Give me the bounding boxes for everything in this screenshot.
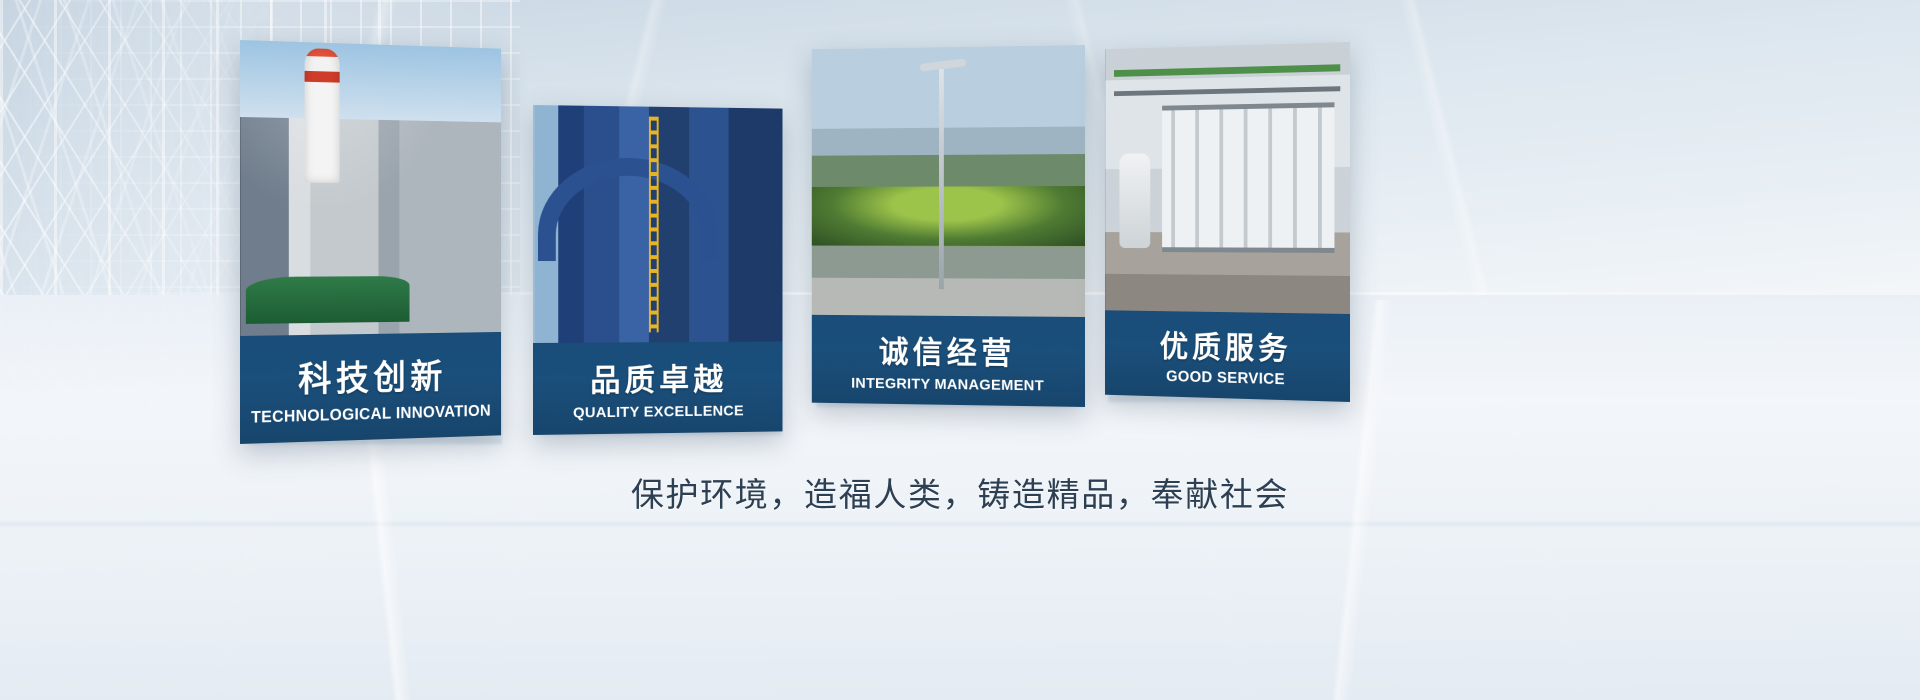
feature-card-integrity-management[interactable]: 诚信经营 INTEGRITY MANAGEMENT (812, 45, 1085, 407)
card-title-cn-2: 品质卓越 (590, 355, 727, 401)
card-title-cn-4: 优质服务 (1160, 322, 1292, 369)
photo-sky (240, 40, 501, 122)
grey-pipe-shape (1114, 86, 1339, 96)
hedge-shape (812, 186, 1085, 246)
card-caption-band-1: 科技创新 TECHNOLOGICAL INNOVATION (240, 332, 501, 444)
card-photo-good-service (1105, 42, 1350, 314)
street-lamp-pole (939, 63, 944, 289)
card-title-cn-3: 诚信经营 (879, 327, 1016, 373)
card-title-en-1: TECHNOLOGICAL INNOVATION (251, 402, 491, 428)
feature-card-technological-innovation[interactable]: 科技创新 TECHNOLOGICAL INNOVATION (240, 40, 501, 444)
feature-card-good-service[interactable]: 优质服务 GOOD SERVICE (1105, 42, 1350, 402)
card-photo-integrity-management (812, 45, 1085, 317)
feature-card-quality-excellence[interactable]: 品质卓越 QUALITY EXCELLENCE (533, 105, 783, 435)
card-title-en-2: QUALITY EXCELLENCE (573, 403, 744, 422)
green-pipe-shape (1114, 64, 1339, 77)
card-caption-band-3: 诚信经营 INTEGRITY MANAGEMENT (812, 315, 1085, 407)
green-tank-shape (245, 276, 409, 324)
card-caption-band-2: 品质卓越 QUALITY EXCELLENCE (533, 341, 783, 435)
chimney-shape (305, 48, 340, 183)
banner-tagline: 保护环境，造福人类，铸造精品，奉献社会 (0, 468, 1920, 516)
card-title-cn-1: 科技创新 (298, 349, 447, 402)
ladder-shape (649, 116, 659, 333)
duct-shape (538, 157, 719, 261)
card-title-en-4: GOOD SERVICE (1166, 368, 1285, 389)
membrane-rack-shape (1162, 102, 1335, 253)
card-title-en-3: INTEGRITY MANAGEMENT (851, 375, 1044, 395)
card-photo-technological-innovation (240, 40, 501, 336)
card-caption-band-4: 优质服务 GOOD SERVICE (1105, 310, 1350, 402)
dosing-tank-shape (1119, 153, 1150, 248)
feature-card-list: 科技创新 TECHNOLOGICAL INNOVATION 品质卓越 QUALI… (0, 0, 1920, 700)
card-photo-quality-excellence (533, 105, 783, 343)
promo-banner: 科技创新 TECHNOLOGICAL INNOVATION 品质卓越 QUALI… (0, 0, 1920, 700)
